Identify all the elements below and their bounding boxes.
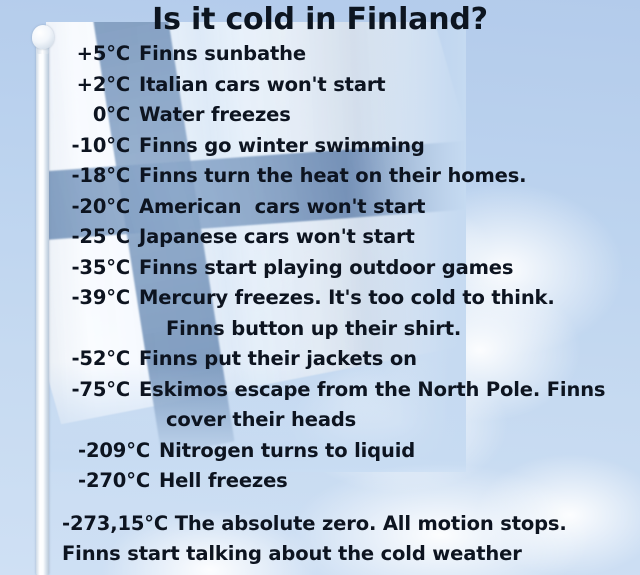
temperature-description: Water freezes	[130, 103, 291, 126]
temperature-value: -35°C	[0, 256, 130, 279]
meme-image: Is it cold in Finland? +5°CFinns sunbath…	[0, 0, 640, 575]
temperature-description: cover their heads	[130, 408, 356, 431]
list-item: -209°CNitrogen turns to liquid	[0, 439, 640, 470]
temperature-value: +2°C	[0, 73, 130, 96]
temperature-value: +5°C	[0, 42, 130, 65]
list-item: -39°CMercury freezes. It's too cold to t…	[0, 286, 640, 317]
closing-line: -273,15°C The absolute zero. All motion …	[0, 512, 640, 543]
temperature-description: Mercury freezes. It's too cold to think.	[130, 286, 555, 309]
temperature-description: Hell freezes	[150, 469, 288, 492]
temperature-description: Nitrogen turns to liquid	[150, 439, 415, 462]
list-item: +5°CFinns sunbathe	[0, 42, 640, 73]
temperature-description: Finns sunbathe	[130, 42, 306, 65]
temperature-description: Finns button up their shirt.	[130, 317, 461, 340]
list-item: -25°CJapanese cars won't start	[0, 225, 640, 256]
list-item: 0°CWater freezes	[0, 103, 640, 134]
list-item: -35°CFinns start playing outdoor games	[0, 256, 640, 287]
temperature-description: Italian cars won't start	[130, 73, 385, 96]
list-item: -75°CEskimos escape from the North Pole.…	[0, 378, 640, 409]
list-item: -52°CFinns put their jackets on	[0, 347, 640, 378]
list-item: -20°CAmerican cars won't start	[0, 195, 640, 226]
temperature-value: -20°C	[0, 195, 130, 218]
temperature-value: -75°C	[0, 378, 130, 401]
temperature-description: Eskimos escape from the North Pole. Finn…	[130, 378, 605, 401]
list-item: Finns button up their shirt.	[0, 317, 640, 348]
temperature-value: -52°C	[0, 347, 130, 370]
list-item: -10°CFinns go winter swimming	[0, 134, 640, 165]
list-item: -18°CFinns turn the heat on their homes.	[0, 164, 640, 195]
temperature-description: Finns put their jackets on	[130, 347, 417, 370]
page-title: Is it cold in Finland?	[0, 2, 640, 37]
list-item: +2°CItalian cars won't start	[0, 73, 640, 104]
list-item: -270°CHell freezes	[0, 469, 640, 500]
spacer	[0, 500, 640, 512]
temperature-description: Finns go winter swimming	[130, 134, 425, 157]
temperature-description: Japanese cars won't start	[130, 225, 415, 248]
closing-line: Finns start talking about the cold weath…	[0, 542, 640, 573]
temperature-value: -270°C	[0, 469, 150, 492]
temperature-description: American cars won't start	[130, 195, 425, 218]
temperature-value: 0°C	[0, 103, 130, 126]
temperature-value: -39°C	[0, 286, 130, 309]
temperature-description: Finns turn the heat on their homes.	[130, 164, 526, 187]
temperature-description: Finns start playing outdoor games	[130, 256, 513, 279]
list-item: cover their heads	[0, 408, 640, 439]
temperature-value: -18°C	[0, 164, 130, 187]
temperature-value: -10°C	[0, 134, 130, 157]
text-overlay: Is it cold in Finland? +5°CFinns sunbath…	[0, 0, 640, 575]
temperature-list: +5°CFinns sunbathe+2°CItalian cars won't…	[0, 42, 640, 573]
temperature-value: -25°C	[0, 225, 130, 248]
temperature-value: -209°C	[0, 439, 150, 462]
